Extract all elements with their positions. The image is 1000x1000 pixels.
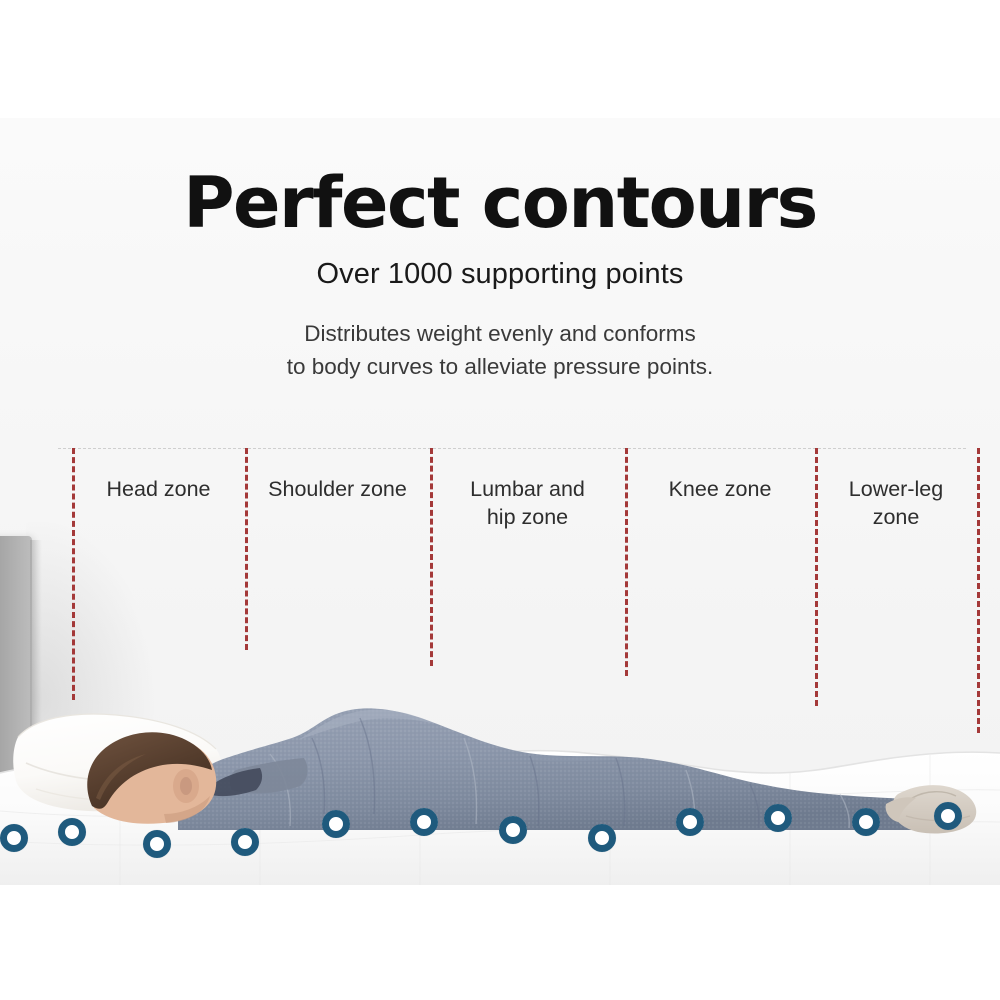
zone-top-rule: [58, 448, 966, 449]
support-point-marker: [322, 810, 350, 838]
page-subtitle: Over 1000 supporting points: [0, 258, 1000, 291]
zone-label-head: Head zone: [72, 476, 245, 504]
zone-label-lowerleg-line2: zone: [815, 504, 977, 532]
support-point-marker: [58, 818, 86, 846]
support-point-marker: [499, 816, 527, 844]
support-point-marker: [588, 824, 616, 852]
zone-label-lumbar-line2: hip zone: [430, 504, 625, 532]
zone-label-lumbar-line1: Lumbar and: [430, 476, 625, 504]
page-description-line2: to body curves to alleviate pressure poi…: [0, 351, 1000, 384]
support-point-marker: [231, 828, 259, 856]
support-point-marker: [676, 808, 704, 836]
support-point-marker: [764, 804, 792, 832]
zone-label-knee-line1: Knee zone: [625, 476, 815, 504]
zone-label-lumbar: Lumbar and hip zone: [430, 476, 625, 531]
headline-block: Perfect contours Over 1000 supporting po…: [0, 0, 1000, 383]
support-point-marker: [143, 830, 171, 858]
support-point-marker: [410, 808, 438, 836]
zone-label-head-line1: Head zone: [72, 476, 245, 504]
zone-label-shoulder: Shoulder zone: [245, 476, 430, 504]
support-point-marker: [852, 808, 880, 836]
zone-label-shoulder-line1: Shoulder zone: [245, 476, 430, 504]
support-point-marker: [0, 824, 28, 852]
page-description-line1: Distributes weight evenly and conforms: [0, 318, 1000, 351]
zone-label-knee: Knee zone: [625, 476, 815, 504]
infographic-root: Head zone Shoulder zone Lumbar and hip z…: [0, 0, 1000, 1000]
zone-label-lowerleg-line1: Lower-leg: [815, 476, 977, 504]
support-point-marker: [934, 802, 962, 830]
zone-label-lowerleg: Lower-leg zone: [815, 476, 977, 531]
page-description: Distributes weight evenly and conforms t…: [0, 318, 1000, 383]
page-title: Perfect contours: [0, 168, 1000, 238]
